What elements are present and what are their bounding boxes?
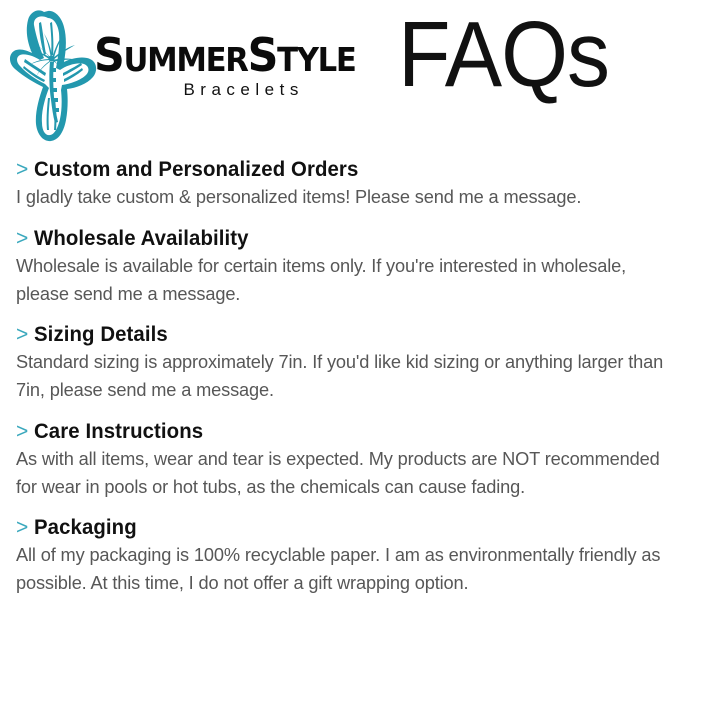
chevron-right-icon: >	[16, 421, 28, 442]
brand-wordmark: SUMMERSTYLE	[94, 34, 356, 77]
faq-question: Care Instructions	[34, 420, 203, 444]
faq-item: > Wholesale Availability Wholesale is av…	[16, 227, 696, 308]
faq-question-row[interactable]: > Wholesale Availability	[16, 227, 696, 251]
wordmark-part-1: UMMER	[124, 40, 248, 79]
faq-item: > Sizing Details Standard sizing is appr…	[16, 323, 696, 404]
chevron-right-icon: >	[16, 324, 28, 345]
faq-question-row[interactable]: > Sizing Details	[16, 323, 696, 347]
faq-page: SUMMERSTYLE Bracelets FAQs > Custom and …	[0, 0, 720, 720]
page-title: FAQs	[398, 8, 609, 101]
starfish-palm-tree-icon	[8, 6, 100, 144]
page-header: SUMMERSTYLE Bracelets FAQs	[0, 0, 720, 150]
faq-answer: I gladly take custom & personalized item…	[16, 183, 682, 211]
faq-list: > Custom and Personalized Orders I gladl…	[16, 158, 696, 597]
chevron-right-icon: >	[16, 159, 28, 180]
faq-question: Wholesale Availability	[34, 227, 249, 251]
chevron-right-icon: >	[16, 228, 28, 249]
brand-logo: SUMMERSTYLE Bracelets	[8, 6, 375, 144]
faq-item: > Packaging All of my packaging is 100% …	[16, 516, 696, 597]
faq-item: > Custom and Personalized Orders I gladl…	[16, 158, 696, 211]
faq-answer: Wholesale is available for certain items…	[16, 252, 682, 308]
brand-wordmark-group: SUMMERSTYLE Bracelets	[94, 6, 375, 100]
faq-question: Packaging	[34, 516, 137, 540]
wordmark-part-2: S	[248, 28, 278, 82]
chevron-right-icon: >	[16, 517, 28, 538]
faq-item: > Care Instructions As with all items, w…	[16, 420, 696, 501]
faq-answer: As with all items, wear and tear is expe…	[16, 445, 682, 501]
wordmark-part-3: TYLE	[277, 40, 355, 79]
faq-question: Sizing Details	[34, 323, 168, 347]
faq-answer: Standard sizing is approximately 7in. If…	[16, 348, 682, 404]
faq-question: Custom and Personalized Orders	[34, 158, 358, 182]
wordmark-part-0: S	[94, 28, 124, 82]
brand-subtitle: Bracelets	[183, 80, 303, 100]
faq-question-row[interactable]: > Packaging	[16, 516, 696, 540]
faq-answer: All of my packaging is 100% recyclable p…	[16, 541, 682, 597]
faq-question-row[interactable]: > Care Instructions	[16, 420, 696, 444]
faq-question-row[interactable]: > Custom and Personalized Orders	[16, 158, 696, 182]
